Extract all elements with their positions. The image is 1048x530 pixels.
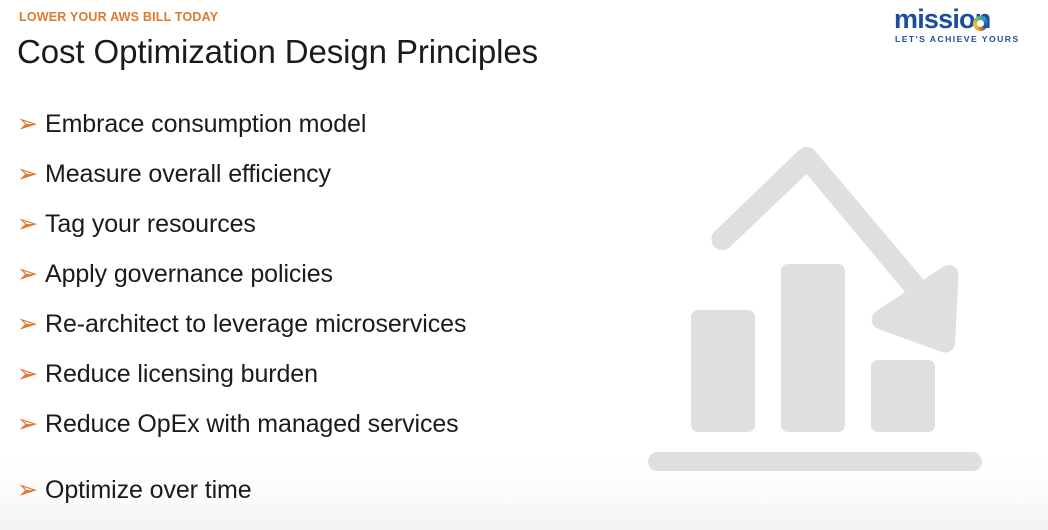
- arrow-bullet-icon: ➢: [17, 262, 45, 287]
- arrow-bullet-icon: ➢: [17, 312, 45, 337]
- page-title: Cost Optimization Design Principles: [17, 33, 538, 71]
- list-item-label: Measure overall efficiency: [45, 162, 637, 187]
- list-item: ➢ Reduce licensing burden: [17, 362, 637, 412]
- list-item: ➢ Apply governance policies: [17, 262, 637, 312]
- list-item: ➢ Reduce OpEx with managed services: [17, 412, 637, 462]
- list-item-label: Re-architect to leverage microservices: [45, 312, 637, 337]
- list-item: ➢ Embrace consumption model: [17, 112, 637, 162]
- chart-baseline: [648, 452, 982, 471]
- bar-1: [691, 310, 755, 432]
- bar-3: [871, 360, 935, 432]
- list-item-label: Apply governance policies: [45, 262, 637, 287]
- list-item-label: Optimize over time: [45, 478, 637, 503]
- list-item-label: Embrace consumption model: [45, 112, 637, 137]
- slide-canvas: LOWER YOUR AWS BILL TODAY Cost Optimizat…: [0, 0, 1048, 530]
- bullet-list: ➢ Embrace consumption model ➢ Measure ov…: [17, 112, 637, 528]
- list-item: ➢ Optimize over time: [17, 478, 637, 528]
- bar-2: [781, 264, 845, 432]
- list-item: ➢ Tag your resources: [17, 212, 637, 262]
- arrow-bullet-icon: ➢: [17, 212, 45, 237]
- declining-bar-chart-icon: [630, 132, 1000, 480]
- logo-tagline: LET'S ACHIEVE YOURS: [895, 34, 1020, 44]
- logo-wordmark-group: mission: [894, 8, 1016, 33]
- list-item: ➢ Measure overall efficiency: [17, 162, 637, 212]
- mission-logo: mission LET'S ACHIEVE YOURS: [894, 8, 1016, 46]
- arrow-bullet-icon: ➢: [17, 362, 45, 387]
- arrow-bullet-icon: ➢: [17, 412, 45, 437]
- arrow-bullet-icon: ➢: [17, 162, 45, 187]
- arrow-bullet-icon: ➢: [17, 112, 45, 137]
- list-item-label: Reduce OpEx with managed services: [45, 412, 637, 437]
- list-item-label: Tag your resources: [45, 212, 637, 237]
- list-item-label: Reduce licensing burden: [45, 362, 637, 387]
- eyebrow-text: LOWER YOUR AWS BILL TODAY: [19, 10, 218, 24]
- gradient-ring-icon: [973, 16, 988, 31]
- arrow-bullet-icon: ➢: [17, 478, 45, 503]
- list-item: ➢ Re-architect to leverage microservices: [17, 312, 637, 362]
